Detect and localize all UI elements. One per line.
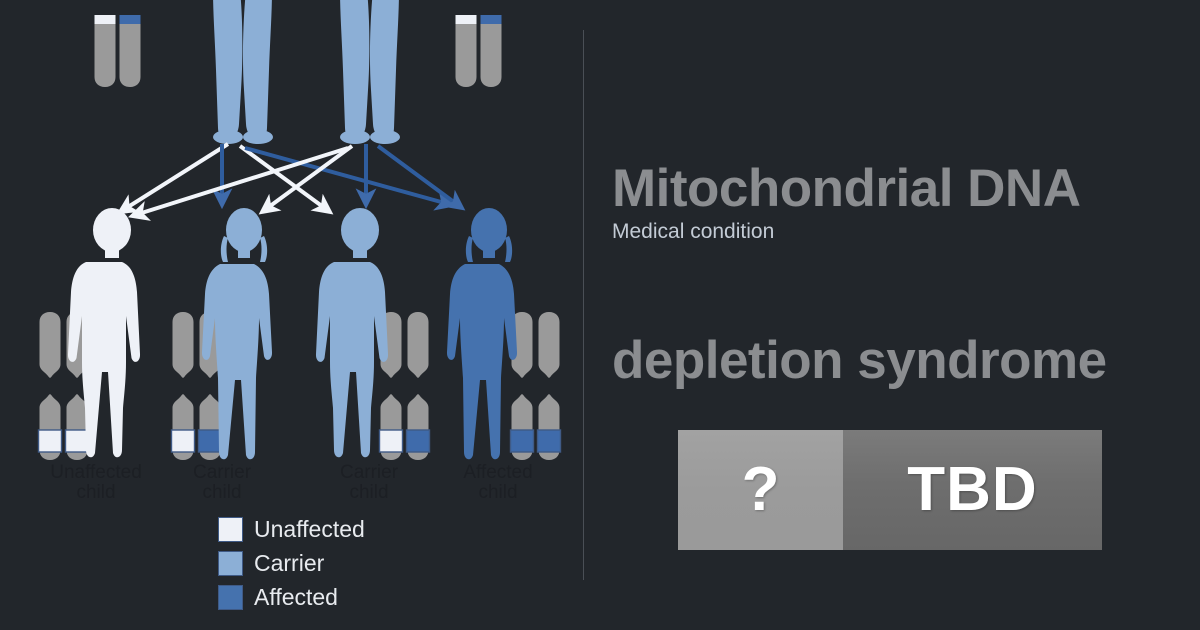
child-carrier-2 <box>316 208 430 460</box>
panel-divider <box>583 30 584 580</box>
legend-label-carrier: Carrier <box>254 550 324 577</box>
page-title-line2: depletion syndrome <box>612 332 1200 389</box>
legend-item-unaffected: Unaffected <box>218 512 478 546</box>
child-unaffected <box>39 208 141 460</box>
tbd-badge-label: TBD <box>907 459 1037 521</box>
child-label-unaffected-line2: child <box>76 482 115 503</box>
child-affected <box>447 208 561 460</box>
legend-label-affected: Affected <box>254 584 338 611</box>
legend-item-affected: Affected <box>218 580 478 614</box>
legend-swatch-affected <box>218 585 243 610</box>
legend: Unaffected Carrier Affected <box>218 512 478 614</box>
parent-left-chromosome-pair <box>95 15 141 87</box>
child-label-carrier1-line1: Carrier <box>193 462 252 483</box>
tbd-badge-question-panel: ? <box>678 430 843 550</box>
child-label-unaffected-line1: Unaffected <box>50 462 142 483</box>
question-mark-icon: ? <box>742 459 780 521</box>
legend-swatch-carrier <box>218 551 243 576</box>
child-label-carrier1-line2: child <box>202 482 241 503</box>
page-root: Unaffected child Carrier child Carrier c… <box>0 0 1200 630</box>
inheritance-arrows <box>120 144 462 216</box>
legend-label-unaffected: Unaffected <box>254 516 365 543</box>
tbd-badge-label-panel: TBD <box>843 430 1102 550</box>
tbd-badge: ? TBD <box>678 430 1102 550</box>
parent-right-chromosome-pair <box>456 15 502 87</box>
legend-swatch-unaffected <box>218 517 243 542</box>
page-title-line1: Mitochondrial DNA <box>612 160 1200 217</box>
info-panel: Mitochondrial DNA depletion syndrome Med… <box>612 0 1200 630</box>
legend-item-carrier: Carrier <box>218 546 478 580</box>
child-carrier-1 <box>172 208 273 460</box>
parent-figure-left <box>213 0 273 144</box>
parent-figure-right <box>340 0 400 144</box>
child-label-affected-line1: Affected <box>463 462 532 483</box>
child-label-affected-line2: child <box>478 482 517 503</box>
page-subtitle: Medical condition <box>612 220 774 244</box>
inheritance-diagram: Unaffected child Carrier child Carrier c… <box>0 0 583 630</box>
child-label-carrier2-line2: child <box>349 482 388 503</box>
child-label-carrier2-line1: Carrier <box>340 462 399 483</box>
